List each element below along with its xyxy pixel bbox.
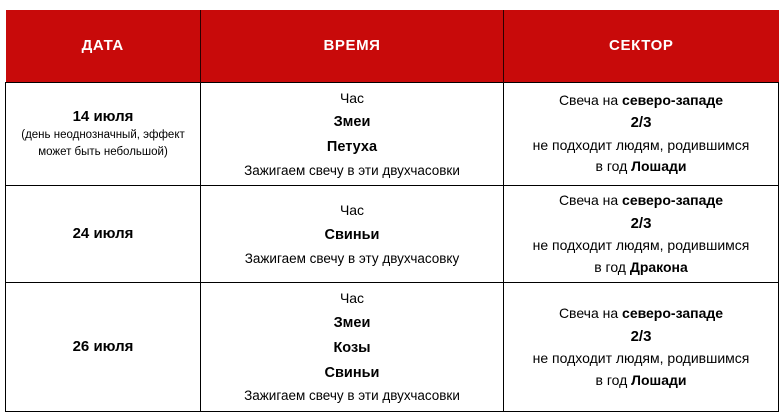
time-lead-label: Час (204, 287, 500, 311)
sector-direction-line: Свеча на северо-западе (507, 303, 775, 325)
sector-fraction: 2/3 (507, 111, 775, 134)
column-header-sector: СЕКТОР (504, 10, 779, 82)
sector-fraction: 2/3 (507, 212, 775, 235)
time-instruction: Зажигаем свечу в эти двухчасовки (204, 385, 500, 407)
sector-year-line: в год Лошади (507, 156, 775, 178)
sector-warning-line: не подходит людям, родившимся (507, 235, 775, 257)
sector-warning-line: не подходит людям, родившимся (507, 348, 775, 370)
time-animal: Свиньи (204, 223, 500, 248)
sector-direction-prefix: Свеча на (559, 305, 622, 321)
candle-schedule-table: ДАТА ВРЕМЯ СЕКТОР 14 июля (день неоднозн… (5, 10, 779, 412)
time-animal: Змеи (204, 311, 500, 336)
sector-direction-value: северо-западе (622, 92, 723, 108)
sector-year-value: Лошади (631, 372, 686, 388)
cell-time: Час Змеи Петуха Зажигаем свечу в эти дву… (201, 82, 504, 186)
header-row: ДАТА ВРЕМЯ СЕКТОР (6, 10, 779, 82)
sector-direction-value: северо-западе (622, 192, 723, 208)
schedule-table-container: ДАТА ВРЕМЯ СЕКТОР 14 июля (день неоднозн… (5, 10, 778, 404)
column-header-date: ДАТА (6, 10, 201, 82)
date-value: 14 июля (9, 107, 197, 127)
sector-year-value: Дракона (630, 259, 688, 275)
table-row: 26 июля Час Змеи Козы Свиньи Зажигаем св… (6, 283, 779, 411)
column-header-time: ВРЕМЯ (201, 10, 504, 82)
date-value: 24 июля (9, 224, 197, 244)
sector-direction-prefix: Свеча на (559, 92, 622, 108)
table-row: 24 июля Час Свиньи Зажигаем свечу в эту … (6, 186, 779, 283)
cell-date: 14 июля (день неоднозначный, эффект може… (6, 82, 201, 186)
sector-warning-line: не подходит людям, родившимся (507, 135, 775, 157)
time-instruction: Зажигаем свечу в эти двухчасовки (204, 160, 500, 182)
date-value: 26 июля (9, 337, 197, 357)
date-note-line-2: может быть небольшой) (9, 145, 197, 161)
time-animal: Свиньи (204, 361, 500, 386)
table-row: 14 июля (день неоднозначный, эффект може… (6, 82, 779, 186)
table-header: ДАТА ВРЕМЯ СЕКТОР (6, 10, 779, 82)
cell-sector: Свеча на северо-западе 2/3 не подходит л… (504, 82, 779, 186)
cell-sector: Свеча на северо-западе 2/3 не подходит л… (504, 186, 779, 283)
time-animal: Петуха (204, 135, 500, 160)
table-body: 14 июля (день неоднозначный, эффект може… (6, 82, 779, 411)
cell-date: 24 июля (6, 186, 201, 283)
time-animal: Змеи (204, 110, 500, 135)
time-instruction: Зажигаем свечу в эту двухчасовку (204, 248, 500, 270)
time-animal: Козы (204, 336, 500, 361)
cell-date: 26 июля (6, 283, 201, 411)
sector-direction-line: Свеча на северо-западе (507, 190, 775, 212)
date-note-line-1: (день неоднозначный, эффект (9, 128, 197, 144)
sector-direction-value: северо-западе (622, 305, 723, 321)
sector-direction-line: Свеча на северо-западе (507, 90, 775, 112)
cell-time: Час Свиньи Зажигаем свечу в эту двухчасо… (201, 186, 504, 283)
sector-year-line: в год Дракона (507, 257, 775, 279)
sector-year-prefix: в год (596, 158, 632, 174)
time-lead-label: Час (204, 199, 500, 223)
sector-fraction: 2/3 (507, 325, 775, 348)
sector-year-prefix: в год (596, 372, 632, 388)
sector-year-line: в год Лошади (507, 370, 775, 392)
cell-sector: Свеча на северо-западе 2/3 не подходит л… (504, 283, 779, 411)
sector-year-value: Лошади (631, 158, 686, 174)
time-lead-label: Час (204, 87, 500, 111)
sector-year-prefix: в год (594, 259, 630, 275)
cell-time: Час Змеи Козы Свиньи Зажигаем свечу в эт… (201, 283, 504, 411)
sector-direction-prefix: Свеча на (559, 192, 622, 208)
